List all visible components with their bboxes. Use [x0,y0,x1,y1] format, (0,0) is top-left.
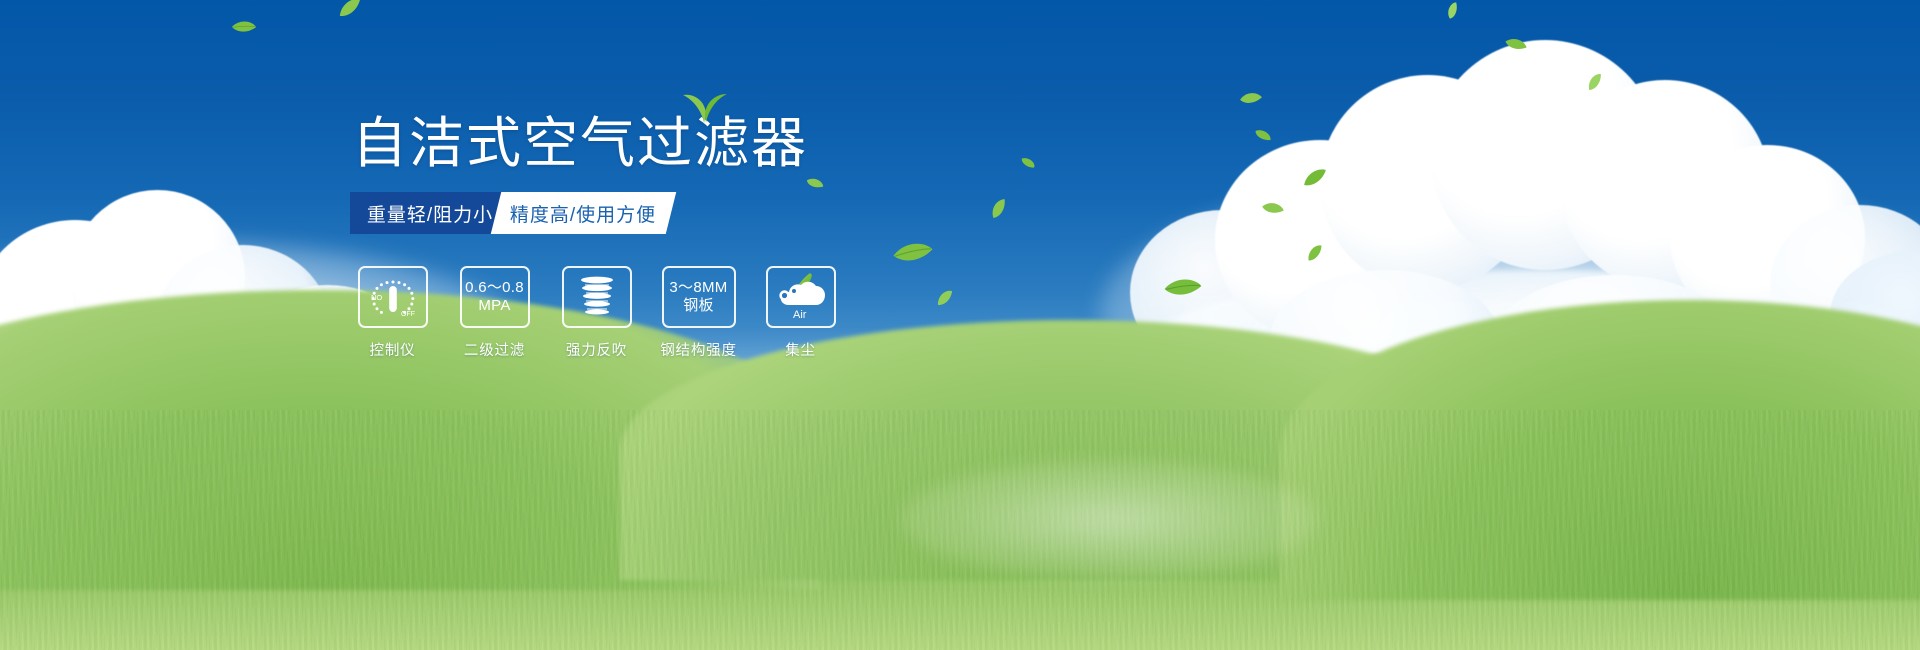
feature-item-controller[interactable]: NO OFF 控制仪 [352,266,433,360]
tab-lightweight-lowresistance[interactable]: 重量轻/阻力小 [350,192,510,234]
feature-item-reverse-blow[interactable]: 强力反吹 [556,266,637,360]
banner-content: 自洁式空气过滤器 重量轻/阻力小 精度高/使用方便 [0,0,1920,650]
gauge-dial-icon: NO OFF [367,273,419,321]
gauge-off-label: OFF [401,311,415,318]
feature-item-steel-strength[interactable]: 3～8MM 钢板 钢结构强度 [658,266,739,360]
hero-banner: 自洁式空气过滤器 重量轻/阻力小 精度高/使用方便 [0,0,1920,650]
steel-thickness: 3～8MM [669,279,727,297]
feature-label: 二级过滤 [464,339,525,360]
feature-icon-box: 0.6～0.8 MPA [460,266,530,328]
feature-label: 控制仪 [370,339,416,360]
tab-label: 重量轻/阻力小 [367,200,493,227]
feature-label: 集尘 [785,339,816,360]
air-label: Air [793,309,807,321]
steel-plate-text-icon: 3～8MM 钢板 [669,279,727,315]
steel-material: 钢板 [669,297,727,315]
pressure-range: 0.6～0.8 [465,279,524,297]
feature-item-dust-collection[interactable]: Air 集尘 [760,266,841,360]
tab-precision-easyuse[interactable]: 精度高/使用方便 [491,192,676,234]
filter-cartridge-icon [574,273,620,321]
feature-icon-box: NO OFF [358,266,428,328]
feature-icon-row: NO OFF 控制仪 0.6～0.8 MPA 二级过滤 [352,266,841,360]
feature-item-secondary-filter[interactable]: 0.6～0.8 MPA 二级过滤 [454,266,535,360]
pressure-unit: MPA [465,297,524,315]
title-leaf-icon [682,90,728,129]
feature-label: 强力反吹 [566,339,627,360]
title-block: 自洁式空气过滤器 [352,112,808,174]
page-title: 自洁式空气过滤器 [352,112,808,174]
cloud-air-icon: Air [772,271,830,323]
pressure-text-icon: 0.6～0.8 MPA [465,279,524,315]
tab-label: 精度高/使用方便 [510,200,656,227]
feature-icon-box [562,266,632,328]
feature-icon-box: Air [766,266,836,328]
feature-label: 钢结构强度 [660,339,737,360]
gauge-no-label: NO [371,293,382,302]
feature-icon-box: 3～8MM 钢板 [662,266,736,328]
